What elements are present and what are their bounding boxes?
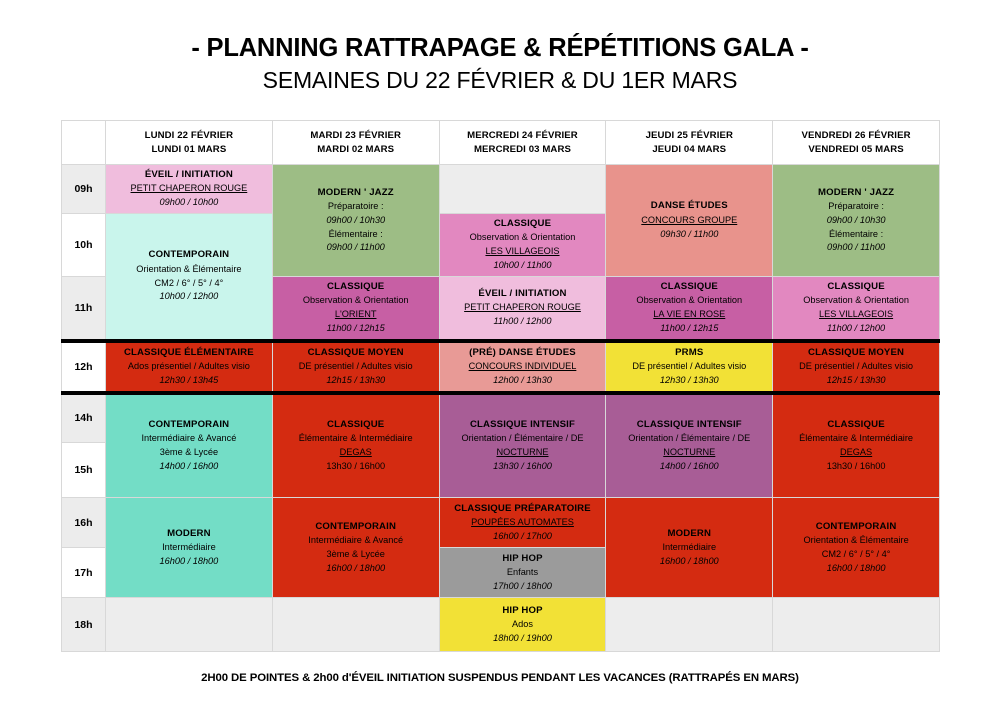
event-title: CLASSIQUE [275,280,437,294]
event-time: 09h00 / 10h00 [108,196,270,210]
event-time: 17h00 / 18h00 [442,580,604,594]
event-mon-classique-elementaire[interactable]: CLASSIQUE ÉLÉMENTAIRE Ados présentiel / … [106,341,273,393]
empty-cell-tue-18h [272,598,439,652]
event-time: 13h30 / 16h00 [275,460,437,474]
event-mon-eveil[interactable]: ÉVEIL / INITIATION PETIT CHAPERON ROUGE … [106,165,273,214]
event-level: Élémentaire & Intermédiaire [275,432,437,446]
event-thu-modern[interactable]: MODERN Intermédiaire 16h00 / 18h00 [606,498,773,598]
event-subtitle: CONCOURS GROUPE [608,214,770,228]
row-09h: 09h ÉVEIL / INITIATION PETIT CHAPERON RO… [62,165,940,214]
event-level: Élémentaire & Intermédiaire [775,432,937,446]
header-line2: VENDREDI 05 MARS [773,143,939,157]
empty-cell-mon-18h [106,598,273,652]
event-title: CONTEMPORAIN [775,520,937,534]
event-fri-classique-villageois[interactable]: CLASSIQUE Observation & Orientation LES … [773,276,940,340]
event-time: 12h15 / 13h30 [775,374,937,388]
event-level: Intermédiaire & Avancé [108,432,270,446]
event-level: Orientation / Élémentaire / DE [608,432,770,446]
event-level-2: Élémentaire : [775,228,937,242]
event-title: MODERN [108,527,270,541]
time-label-18h: 18h [62,598,106,652]
event-level: DE présentiel / Adultes visio [275,360,437,374]
event-mon-contemporain-avance[interactable]: CONTEMPORAIN Intermédiaire & Avancé 3ème… [106,393,273,498]
time-label-15h: 15h [62,443,106,498]
event-title: CLASSIQUE MOYEN [775,346,937,360]
header-line1: MARDI 23 FÉVRIER [273,129,439,143]
event-title: HIP HOP [442,604,604,618]
event-time: 12h30 / 13h30 [608,374,770,388]
event-level: Observation & Orientation [775,294,937,308]
footer-note: 2H00 DE POINTES & 2h00 d'ÉVEIL INITIATIO… [0,672,1000,684]
event-level: Orientation & Élémentaire [775,534,937,548]
event-level: Observation & Orientation [608,294,770,308]
event-title: CLASSIQUE ÉLÉMENTAIRE [108,346,270,360]
event-piece: POUPÉES AUTOMATES [442,516,604,530]
event-time: 16h00 / 17h00 [442,530,604,544]
time-label-10h: 10h [62,213,106,276]
event-subtitle: PETIT CHAPERON ROUGE [108,182,270,196]
corner-cell [62,121,106,165]
event-title: CLASSIQUE [775,418,937,432]
event-title: PRMS [608,346,770,360]
event-fri-classique-degas[interactable]: CLASSIQUE Élémentaire & Intermédiaire DE… [773,393,940,498]
event-level-2: Élémentaire : [275,228,437,242]
event-time: 10h00 / 12h00 [108,290,270,304]
time-label-11h: 11h [62,276,106,340]
event-fri-classique-moyen[interactable]: CLASSIQUE MOYEN DE présentiel / Adultes … [773,341,940,393]
event-classes: 3ème & Lycée [108,446,270,460]
event-fri-modern-jazz[interactable]: MODERN ' JAZZ Préparatoire : 09h00 / 10h… [773,165,940,277]
event-wed-classique-villageois[interactable]: CLASSIQUE Observation & Orientation LES … [439,213,606,276]
event-tue-classique-orient[interactable]: CLASSIQUE Observation & Orientation L'OR… [272,276,439,340]
event-title: ÉVEIL / INITIATION [442,287,604,301]
column-header-tuesday: MARDI 23 FÉVRIER MARDI 02 MARS [272,121,439,165]
event-time-2: 09h00 / 11h00 [275,241,437,255]
event-title: CLASSIQUE [275,418,437,432]
event-title: DANSE ÉTUDES [608,199,770,213]
event-wed-hiphop-ados[interactable]: HIP HOP Ados 18h00 / 19h00 [439,598,606,652]
event-level: Intermédiaire [108,541,270,555]
event-title: CONTEMPORAIN [108,418,270,432]
empty-cell-wed-09h [439,165,606,214]
header-line1: LUNDI 22 FÉVRIER [106,129,272,143]
event-thu-classique-vie-en-rose[interactable]: CLASSIQUE Observation & Orientation LA V… [606,276,773,340]
event-level: Orientation / Élémentaire / DE [442,432,604,446]
event-tue-classique-moyen[interactable]: CLASSIQUE MOYEN DE présentiel / Adultes … [272,341,439,393]
event-piece: DEGAS [275,446,437,460]
column-header-thursday: JEUDI 25 FÉVRIER JEUDI 04 MARS [606,121,773,165]
header-line1: MERCREDI 24 FÉVRIER [440,129,606,143]
event-wed-eveil[interactable]: ÉVEIL / INITIATION PETIT CHAPERON ROUGE … [439,276,606,340]
event-title: CLASSIQUE INTENSIF [442,418,604,432]
event-time-2: 09h00 / 11h00 [775,241,937,255]
event-level: Observation & Orientation [275,294,437,308]
event-time: 12h15 / 13h30 [275,374,437,388]
event-title: CONTEMPORAIN [108,248,270,262]
event-piece: L'ORIENT [275,308,437,322]
poster-header: - PLANNING RATTRAPAGE & RÉPÉTITIONS GALA… [0,34,1000,94]
event-title: CLASSIQUE [775,280,937,294]
header-line1: JEUDI 25 FÉVRIER [606,129,772,143]
event-title: MODERN ' JAZZ [275,186,437,200]
event-tue-classique-degas[interactable]: CLASSIQUE Élémentaire & Intermédiaire DE… [272,393,439,498]
event-level: DE présentiel / Adultes visio [775,360,937,374]
empty-cell-fri-18h [773,598,940,652]
column-header-friday: VENDREDI 26 FÉVRIER VENDREDI 05 MARS [773,121,940,165]
time-label-12h: 12h [62,341,106,393]
event-time: 16h00 / 18h00 [608,555,770,569]
event-time-1: 09h00 / 10h30 [275,214,437,228]
event-title: ÉVEIL / INITIATION [108,168,270,182]
event-piece: LA VIE EN ROSE [608,308,770,322]
event-level: Ados présentiel / Adultes visio [108,360,270,374]
row-14h: 14h CONTEMPORAIN Intermédiaire & Avancé … [62,393,940,443]
event-thu-danse-etudes[interactable]: DANSE ÉTUDES CONCOURS GROUPE 09h30 / 11h… [606,165,773,277]
event-time: 13h30 / 16h00 [442,460,604,474]
event-time: 11h00 / 12h15 [608,322,770,336]
event-title: CLASSIQUE INTENSIF [608,418,770,432]
event-title: CLASSIQUE [608,280,770,294]
page-title: - PLANNING RATTRAPAGE & RÉPÉTITIONS GALA… [0,34,1000,63]
planning-poster: - PLANNING RATTRAPAGE & RÉPÉTITIONS GALA… [0,0,1000,707]
event-wed-classique-preparatoire[interactable]: CLASSIQUE PRÉPARATOIRE POUPÉES AUTOMATES… [439,498,606,548]
event-title: CLASSIQUE [442,217,604,231]
event-subtitle: PETIT CHAPERON ROUGE [442,301,604,315]
event-subtitle: CONCOURS INDIVIDUEL [442,360,604,374]
event-title: (PRÉ) DANSE ÉTUDES [442,346,604,360]
header-line1: VENDREDI 26 FÉVRIER [773,129,939,143]
event-time: 09h30 / 11h00 [608,228,770,242]
event-title: CLASSIQUE MOYEN [275,346,437,360]
event-piece: DEGAS [775,446,937,460]
event-mon-modern[interactable]: MODERN Intermédiaire 16h00 / 18h00 [106,498,273,598]
event-level: Orientation & Élémentaire [108,263,270,277]
event-level-1: Préparatoire : [775,200,937,214]
time-label-09h: 09h [62,165,106,214]
row-16h: 16h MODERN Intermédiaire 16h00 / 18h00 C… [62,498,940,548]
empty-cell-thu-18h [606,598,773,652]
event-level: Ados [442,618,604,632]
header-line2: MARDI 02 MARS [273,143,439,157]
header-line2: MERCREDI 03 MARS [440,143,606,157]
header-line2: LUNDI 01 MARS [106,143,272,157]
event-level-1: Préparatoire : [275,200,437,214]
event-time: 11h00 / 12h00 [775,322,937,336]
event-title: MODERN [608,527,770,541]
event-fri-contemporain[interactable]: CONTEMPORAIN Orientation & Élémentaire C… [773,498,940,598]
event-title: HIP HOP [442,552,604,566]
event-time: 14h00 / 16h00 [608,460,770,474]
page-subtitle: SEMAINES DU 22 FÉVRIER & DU 1ER MARS [0,67,1000,95]
header-line2: JEUDI 04 MARS [606,143,772,157]
event-title: MODERN ' JAZZ [775,186,937,200]
event-time: 10h00 / 11h00 [442,259,604,273]
event-level: Enfants [442,566,604,580]
event-time: 11h00 / 12h00 [442,315,604,329]
event-tue-contemporain[interactable]: CONTEMPORAIN Intermédiaire & Avancé 3ème… [272,498,439,598]
column-header-wednesday: MERCREDI 24 FÉVRIER MERCREDI 03 MARS [439,121,606,165]
event-time-1: 09h00 / 10h30 [775,214,937,228]
event-time: 12h30 / 13h45 [108,374,270,388]
event-classes: CM2 / 6° / 5° / 4° [108,277,270,291]
event-classes: CM2 / 6° / 5° / 4° [775,548,937,562]
event-thu-prms[interactable]: PRMS DE présentiel / Adultes visio 12h30… [606,341,773,393]
event-level: Observation & Orientation [442,231,604,245]
event-piece: NOCTURNE [608,446,770,460]
event-title: CLASSIQUE PRÉPARATOIRE [442,502,604,516]
event-title: CONTEMPORAIN [275,520,437,534]
row-18h: 18h HIP HOP Ados 18h00 / 19h00 [62,598,940,652]
event-wed-classique-intensif[interactable]: CLASSIQUE INTENSIF Orientation / Élément… [439,393,606,498]
time-label-16h: 16h [62,498,106,548]
event-level: Intermédiaire & Avancé [275,534,437,548]
event-time: 16h00 / 18h00 [775,562,937,576]
event-time: 12h00 / 13h30 [442,374,604,388]
event-level: DE présentiel / Adultes visio [608,360,770,374]
event-time: 16h00 / 18h00 [275,562,437,576]
event-wed-pre-danse-etudes[interactable]: (PRÉ) DANSE ÉTUDES CONCOURS INDIVIDUEL 1… [439,341,606,393]
event-piece: LES VILLAGEOIS [442,245,604,259]
event-piece: LES VILLAGEOIS [775,308,937,322]
event-classes: 3ème & Lycée [275,548,437,562]
column-header-monday: LUNDI 22 FÉVRIER LUNDI 01 MARS [106,121,273,165]
event-time: 13h30 / 16h00 [775,460,937,474]
row-12h: 12h CLASSIQUE ÉLÉMENTAIRE Ados présentie… [62,341,940,393]
table-header-row: LUNDI 22 FÉVRIER LUNDI 01 MARS MARDI 23 … [62,121,940,165]
event-time: 11h00 / 12h15 [275,322,437,336]
event-time: 16h00 / 18h00 [108,555,270,569]
event-thu-classique-intensif[interactable]: CLASSIQUE INTENSIF Orientation / Élément… [606,393,773,498]
event-mon-contemporain[interactable]: CONTEMPORAIN Orientation & Élémentaire C… [106,213,273,340]
schedule-table: LUNDI 22 FÉVRIER LUNDI 01 MARS MARDI 23 … [61,120,940,652]
event-time: 18h00 / 19h00 [442,632,604,646]
event-tue-modern-jazz[interactable]: MODERN ' JAZZ Préparatoire : 09h00 / 10h… [272,165,439,277]
time-label-14h: 14h [62,393,106,443]
event-level: Intermédiaire [608,541,770,555]
time-label-17h: 17h [62,548,106,598]
event-time: 14h00 / 16h00 [108,460,270,474]
event-wed-hiphop-enfants[interactable]: HIP HOP Enfants 17h00 / 18h00 [439,548,606,598]
event-piece: NOCTURNE [442,446,604,460]
